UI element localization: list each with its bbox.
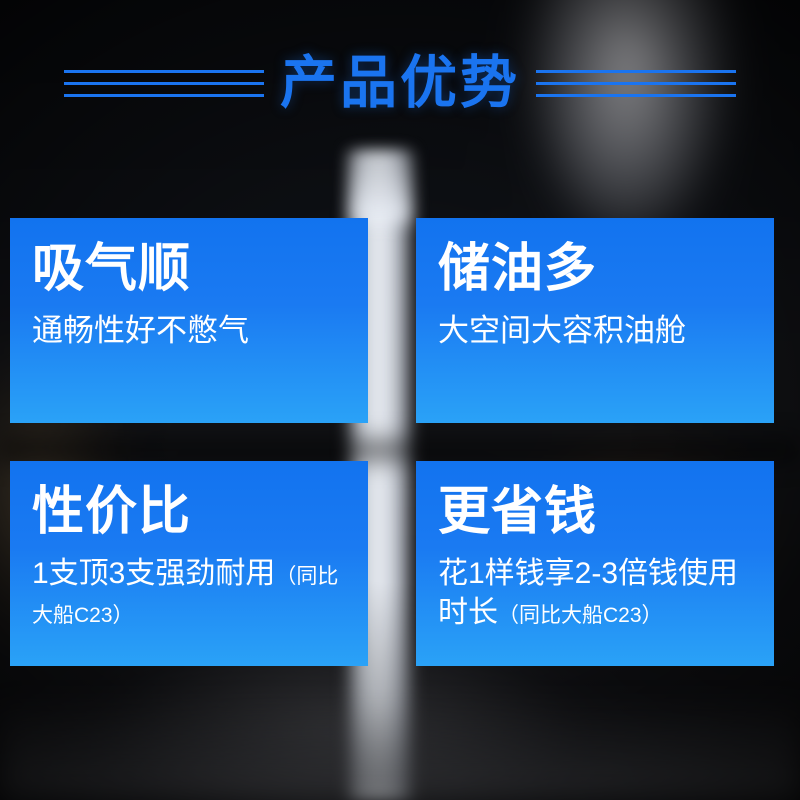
feature-card: 性价比 1支顶3支强劲耐用（同比大船C23） — [10, 461, 368, 666]
rule-line — [536, 82, 736, 85]
rule-line — [64, 70, 264, 73]
page-title: 产品优势 — [264, 55, 536, 112]
feature-card-description-main: 大空间大容积油舱 — [438, 313, 686, 348]
feature-card-grid: 吸气顺 通畅性好不憋气 储油多 大空间大容积油舱 性价比 1支顶3支强劲耐用（同… — [10, 218, 790, 666]
rule-line — [64, 94, 264, 97]
feature-card-title: 储油多 — [438, 242, 754, 297]
title-rules-left — [44, 70, 264, 97]
rule-line — [64, 82, 264, 85]
feature-card-title: 吸气顺 — [32, 242, 348, 297]
feature-card-description: 通畅性好不憋气 — [32, 311, 348, 351]
feature-card-description-note: （同比大船C23） — [498, 604, 663, 627]
feature-card: 更省钱 花1样钱享2-3倍钱使用时长（同比大船C23） — [416, 461, 774, 666]
rule-line — [536, 70, 736, 73]
feature-card-title: 更省钱 — [438, 485, 754, 540]
feature-card: 储油多 大空间大容积油舱 — [416, 218, 774, 423]
rule-line — [536, 94, 736, 97]
feature-card-description-main: 通畅性好不憋气 — [32, 313, 249, 348]
title-rules-right — [536, 70, 756, 97]
feature-card-description: 1支顶3支强劲耐用（同比大船C23） — [32, 554, 348, 632]
feature-card-title: 性价比 — [32, 485, 348, 540]
feature-card-description: 大空间大容积油舱 — [438, 311, 754, 351]
feature-card: 吸气顺 通畅性好不憋气 — [10, 218, 368, 423]
header: 产品优势 — [0, 38, 800, 128]
feature-card-description-main: 1支顶3支强劲耐用 — [32, 557, 275, 590]
poster-root: 产品优势 吸气顺 通畅性好不憋气 储油多 大空间大容积油舱 性价比 1支顶3支强… — [0, 0, 800, 800]
feature-card-description: 花1样钱享2-3倍钱使用时长（同比大船C23） — [438, 554, 754, 632]
